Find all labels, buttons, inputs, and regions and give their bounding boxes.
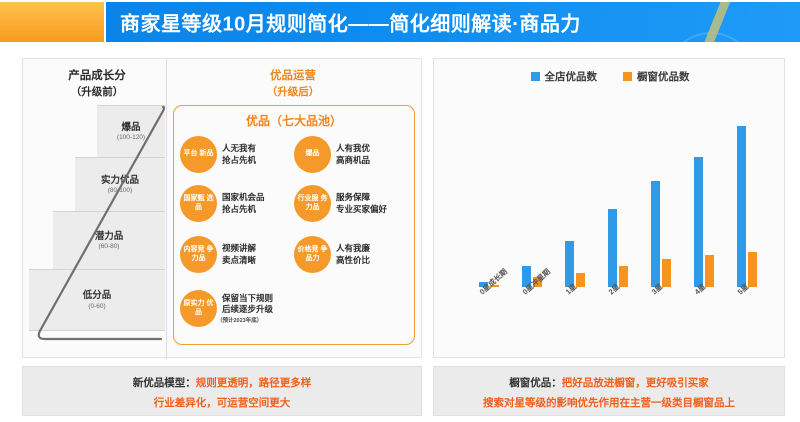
pyramid-tier-0-range: (100-120) — [117, 134, 145, 141]
pool-text-5: 人有我廉 高性价比 — [336, 243, 370, 266]
pyramid-tier-2-name: 潜力品 — [95, 231, 124, 242]
heading-before-line2: （升级前） — [33, 85, 161, 99]
pool-bubble-6: 原实力 优品 — [180, 290, 217, 327]
column-heading-after: 优品运营 （升级后） — [173, 69, 413, 99]
footer-window-product-summary: 橱窗优品：把好品放进橱窗，更好吸引买家 搜索对星等级的影响优先作用在主营一级类目… — [433, 366, 785, 416]
chart-legend: 全店优品数 橱窗优品数 — [444, 69, 776, 84]
footer-left-text2: 行业差异化，可运营空间更大 — [133, 395, 312, 411]
column-heading-before: 产品成长分 （升级前） — [33, 69, 161, 99]
footer-left-line1: 新优品模型：规则更透明，路径更多样 — [133, 370, 312, 395]
footer-left-text1: 规则更透明，路径更多样 — [196, 377, 312, 389]
pool-grid: 平台 新品 人无我有 抢占先机 爆品 人有我优 高商机品 国家甄 选品 国家机会… — [178, 132, 412, 338]
pool-item-5[interactable]: 价格竞 争品力 人有我廉 高性价比 — [294, 236, 370, 273]
pool-text-6: 保留当下规则 后续逐步升级 — [222, 293, 273, 316]
panel-divider — [166, 59, 167, 359]
chart-x-axis: 0星成长期0星冲星期1星2星3星4星5星 — [468, 289, 768, 345]
pool-bubble-4: 内容竞 争力品 — [180, 236, 217, 273]
pool-text-1: 人有我优 高商机品 — [336, 143, 370, 166]
pool-item-2[interactable]: 国家甄 选品 国家机会品 抢占先机 — [180, 185, 265, 222]
legend-item-1[interactable]: 橱窗优品数 — [623, 69, 690, 84]
product-score-pyramid: 爆品 (100-120) 实力优品 (80-100) 潜力品 (60-80) 低… — [29, 105, 165, 345]
pyramid-tier-1-range: (80-100) — [108, 187, 133, 194]
footer-new-model-summary: 新优品模型：规则更透明，路径更多样 行业差异化，可运营空间更大 — [22, 366, 422, 416]
pool-text-4: 视频讲解 卖点清晰 — [222, 243, 256, 266]
pool-item-1[interactable]: 爆品 人有我优 高商机品 — [294, 136, 370, 173]
pool-item-3[interactable]: 行业服 务力品 服务保障 专业买家偏好 — [294, 185, 387, 222]
bar-group-1 — [515, 103, 549, 287]
pyramid-tier-0: 爆品 (100-120) — [97, 105, 165, 157]
bar-group-0 — [472, 103, 506, 287]
footer-right-label: 橱窗优品： — [509, 377, 562, 389]
legend-label-1: 橱窗优品数 — [637, 69, 690, 84]
pool-bubble-3: 行业服 务力品 — [294, 185, 331, 222]
pool-item-6[interactable]: 原实力 优品 保留当下规则 后续逐步升级 （预计2023年底） — [180, 290, 273, 327]
pyramid-tier-3: 低分品 (0-60) — [29, 269, 165, 331]
premium-product-count-chart-panel: 全店优品数 橱窗优品数 0星成长期0星冲星期1星2星3星4星5星 — [433, 58, 785, 358]
bar-0-3[interactable] — [608, 209, 617, 287]
bar-group-2 — [558, 103, 592, 287]
pyramid-tier-2-range: (60-80) — [99, 243, 120, 250]
heading-before-line1: 产品成长分 — [33, 69, 161, 85]
pool-text-0: 人无我有 抢占先机 — [222, 143, 256, 166]
bar-0-6[interactable] — [737, 126, 746, 287]
footer-right-text1: 把好品放进橱窗，更好吸引买家 — [562, 377, 709, 389]
page-title: 商家星等级10月规则简化——简化细则解读·商品力 — [120, 8, 581, 37]
legend-swatch-1 — [623, 72, 632, 81]
pool-note-6: （预计2023年底） — [217, 316, 273, 324]
pyramid-tier-1: 实力优品 (80-100) — [75, 157, 165, 211]
footer-left-inner: 新优品模型：规则更透明，路径更多样 行业差异化，可运营空间更大 — [133, 370, 312, 411]
pool-bubble-0: 平台 新品 — [180, 136, 217, 173]
pyramid-tier-2: 潜力品 (60-80) — [53, 211, 165, 269]
pool-item-0[interactable]: 平台 新品 人无我有 抢占先机 — [180, 136, 256, 173]
footer-right-inner: 橱窗优品：把好品放进橱窗，更好吸引买家 搜索对星等级的影响优先作用在主营一级类目… — [483, 370, 735, 411]
pool-bubble-1: 爆品 — [294, 136, 331, 173]
footer-right-line1: 橱窗优品：把好品放进橱窗，更好吸引买家 — [483, 370, 735, 395]
legend-swatch-0 — [531, 72, 540, 81]
bar-group-6 — [730, 103, 764, 287]
header-banner: 商家星等级10月规则简化——简化细则解读·商品力 — [106, 2, 800, 42]
pool-bubble-5: 价格竞 争品力 — [294, 236, 331, 273]
pyramid-tier-1-name: 实力优品 — [101, 175, 139, 186]
pyramid-tier-3-name: 低分品 — [83, 290, 112, 301]
bar-group-4 — [644, 103, 678, 287]
legend-item-0[interactable]: 全店优品数 — [531, 69, 598, 84]
heading-after-line1: 优品运营 — [173, 69, 413, 85]
bar-group-3 — [601, 103, 635, 287]
premium-product-pool-box: 优品（七大品池） 平台 新品 人无我有 抢占先机 爆品 人有我优 高商机品 国家… — [173, 105, 415, 345]
pyramid-tier-3-range: (0-60) — [88, 303, 105, 310]
header-orange-block — [0, 2, 104, 42]
pool-text-3: 服务保障 专业买家偏好 — [336, 192, 387, 215]
pool-text-2: 国家机会品 抢占先机 — [222, 192, 265, 215]
pyramid-tier-0-name: 爆品 — [121, 122, 140, 133]
footer-right-text2: 搜索对星等级的影响优先作用在主营一级类目橱窗品上 — [483, 395, 735, 411]
footer-left-label: 新优品模型： — [133, 377, 196, 389]
bar-chart: 全店优品数 橱窗优品数 0星成长期0星冲星期1星2星3星4星5星 — [444, 67, 776, 351]
bar-0-5[interactable] — [694, 157, 703, 287]
pool-box-title: 优品（七大品池） — [174, 112, 414, 129]
legend-label-0: 全店优品数 — [545, 69, 598, 84]
heading-after-line2: （升级后） — [173, 85, 413, 99]
pool-item-4[interactable]: 内容竞 争力品 视频讲解 卖点清晰 — [180, 236, 256, 273]
bar-0-4[interactable] — [651, 181, 660, 287]
product-model-panel: 产品成长分 （升级前） 优品运营 （升级后） 爆品 (100-120) 实力优品… — [22, 58, 422, 358]
pool-bubble-2: 国家甄 选品 — [180, 185, 217, 222]
slide-root: 商家星等级10月规则简化——简化细则解读·商品力 产品成长分 （升级前） 优品运… — [0, 0, 800, 422]
bar-group-5 — [687, 103, 721, 287]
